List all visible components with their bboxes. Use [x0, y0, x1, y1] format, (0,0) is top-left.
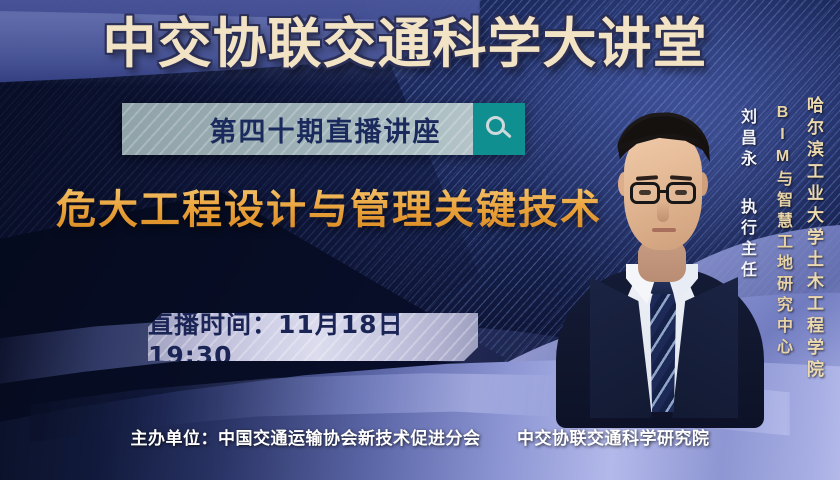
- portrait-eyeglass-left: [630, 182, 660, 204]
- broadcast-time-text: 直播时间：11月18日19:30: [148, 305, 478, 370]
- main-title: 中交协联交通科学大讲堂: [0, 14, 840, 74]
- portrait-nose: [657, 202, 669, 222]
- episode-bar-body: 第四十期直播讲座: [122, 103, 473, 155]
- portrait-eyeglass-right: [666, 182, 696, 204]
- portrait-eyeglass-bridge: [659, 190, 668, 193]
- portrait-mouth: [652, 228, 676, 232]
- search-icon: [486, 116, 512, 142]
- search-icon-box[interactable]: [473, 103, 525, 155]
- speaker-role: 执行主任: [734, 198, 758, 282]
- lecture-topic: 危大工程设计与管理关键技术: [56, 186, 602, 234]
- speaker-affiliation-center: BIM与智慧工地研究中心: [770, 104, 794, 359]
- episode-label: 第四十期直播讲座: [154, 110, 442, 149]
- broadcast-time-pill: 直播时间：11月18日19:30: [148, 313, 478, 361]
- footer-organizers: 主办单位：中国交通运输协会新技术促进分会 中交协联交通科学研究院: [0, 424, 840, 449]
- speaker-affiliation-school: 哈尔滨工业大学土木工程学院: [801, 96, 826, 382]
- speaker-name: 刘昌永: [734, 108, 758, 171]
- footer-co-organizer: 中交协联交通科学研究院: [517, 429, 710, 448]
- webinar-poster: 中交协联交通科学大讲堂 第四十期直播讲座 危大工程设计与管理关键技术 直播时间：…: [0, 0, 840, 480]
- portrait-necktie: [650, 284, 676, 412]
- footer-organizer: 主办单位：中国交通运输协会新技术促进分会: [131, 429, 481, 448]
- speaker-portrait: [560, 72, 760, 412]
- episode-bar: 第四十期直播讲座: [122, 103, 525, 155]
